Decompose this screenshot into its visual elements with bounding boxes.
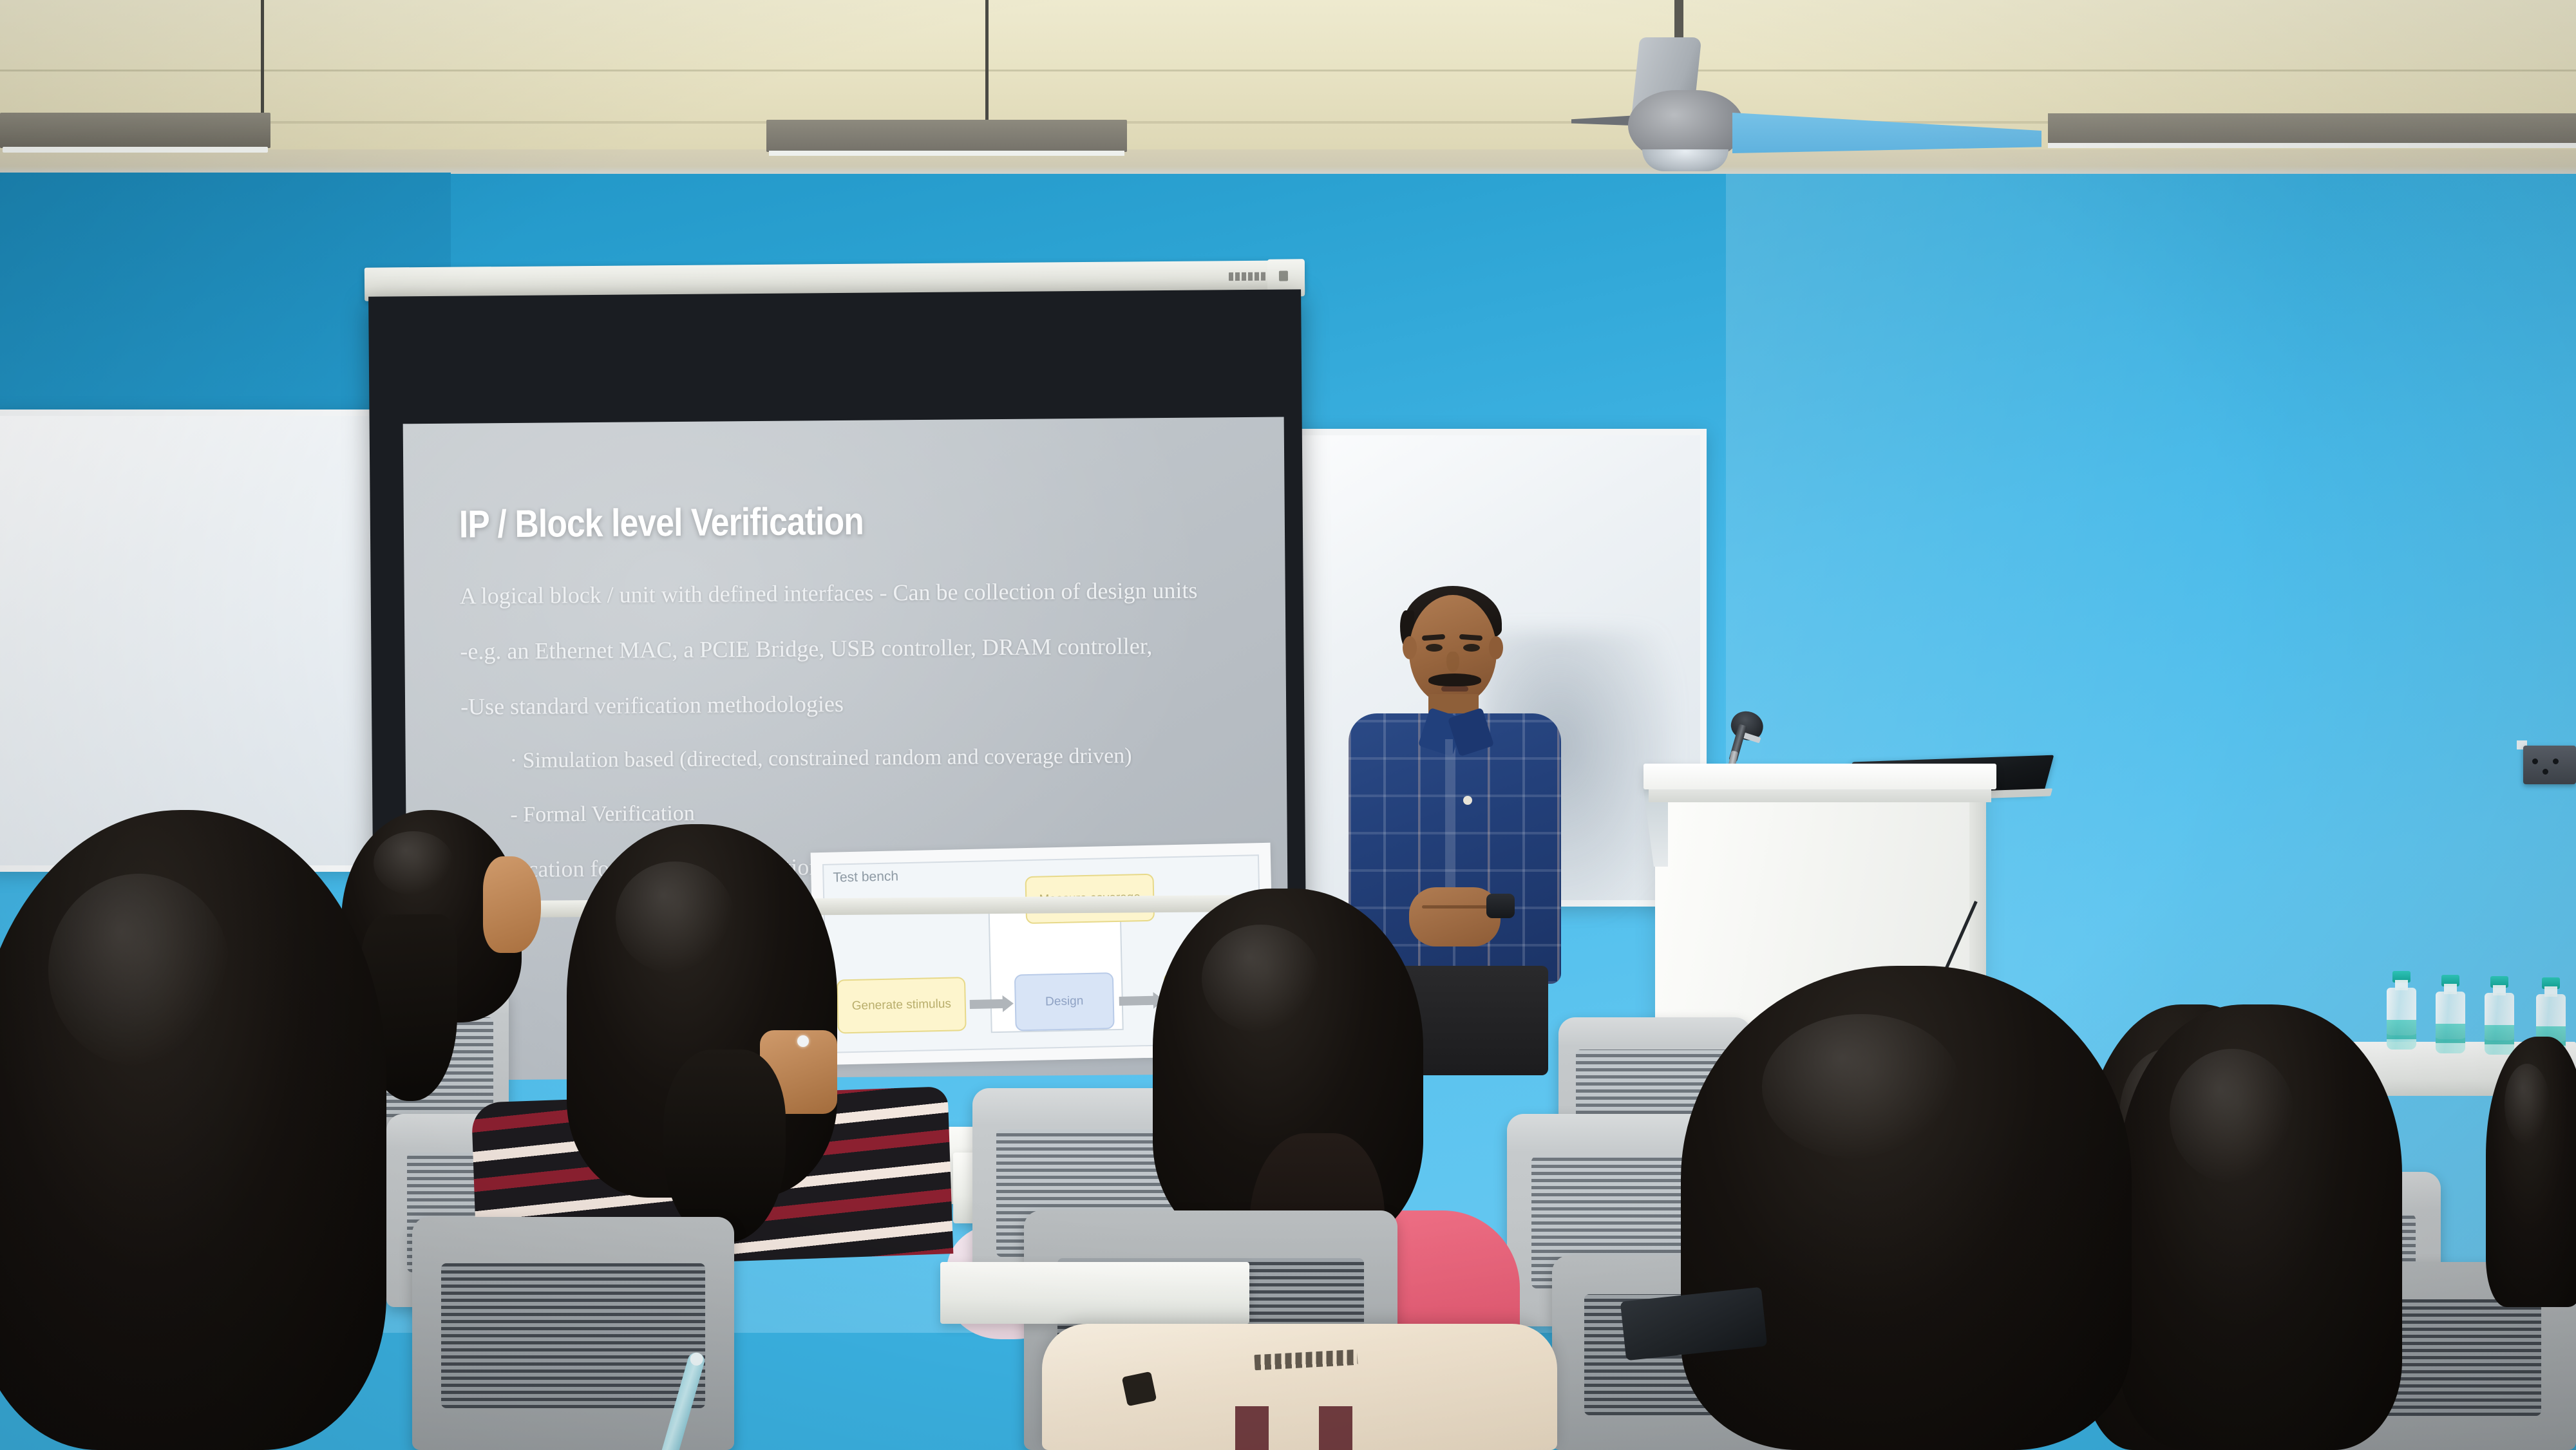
- classroom-photo-scene: IP / Block level Verification A logical …: [0, 0, 2576, 1450]
- diagram-arrow-design-to-check: [1119, 996, 1154, 1006]
- bottle-label: [2436, 1024, 2465, 1043]
- presenter-moustache: [1428, 673, 1481, 686]
- diagram-box-design: Design: [1014, 972, 1115, 1031]
- podium-lip: [1649, 789, 1991, 802]
- ceiling-seam: [0, 70, 2576, 71]
- screen-brand-logo-icon: [1229, 272, 1271, 281]
- hair-sheen: [2170, 1049, 2295, 1183]
- presenter-ear-left: [1403, 636, 1417, 659]
- backpack-brand-logo-icon: [1254, 1350, 1358, 1370]
- hair-sheen: [48, 874, 230, 1066]
- water-bottle[interactable]: [2387, 972, 2416, 1050]
- backpack[interactable]: [1042, 1324, 1557, 1450]
- hair-sheen: [1202, 925, 1321, 1033]
- slide-bullet: -e.g. an Ethernet MAC, a PCIE Bridge, US…: [460, 634, 1258, 664]
- diagram-box-generate-stimulus: Generate stimulus: [837, 977, 967, 1033]
- hair-sheen: [616, 862, 735, 974]
- presenter-nose: [1446, 652, 1459, 672]
- presenter-hand-crease: [1422, 905, 1489, 909]
- slide-bullet: A logical block / unit with defined inte…: [460, 578, 1258, 609]
- water-bottle[interactable]: [2436, 976, 2465, 1053]
- whiteboard-left: [0, 410, 386, 872]
- water-bottle[interactable]: [2485, 977, 2514, 1055]
- presentation-slide: IP / Block level Verification A logical …: [403, 417, 1289, 1081]
- projection-screen: IP / Block level Verification A logical …: [368, 289, 1306, 940]
- tube-light-icon-left: [0, 113, 270, 148]
- slide-bullet: - Formal Verification: [510, 798, 1260, 827]
- backpack-strap: [1235, 1406, 1269, 1450]
- hair-sheen: [1762, 1014, 1960, 1160]
- presenter-ear-right: [1489, 636, 1503, 659]
- audience-head: [2119, 1004, 2402, 1450]
- audience-face: [483, 856, 541, 953]
- presenter-eye-left: [1426, 644, 1443, 652]
- slide-bullet: -Use standard verification methodologies: [460, 688, 1259, 719]
- power-socket-icon[interactable]: [2523, 746, 2576, 784]
- audience-head: [2486, 1037, 2576, 1307]
- backpack-buckle-icon: [1122, 1371, 1157, 1407]
- presenter-smartwatch: [1486, 894, 1515, 918]
- presenter-shirt-button: [1463, 796, 1472, 805]
- bottle-body: [2485, 993, 2514, 1055]
- presenter-eye-right: [1463, 644, 1480, 652]
- tube-light-icon-right: [2048, 113, 2576, 144]
- bottle-label: [2485, 1025, 2514, 1044]
- hair-sheen: [2505, 1064, 2550, 1145]
- chair-mesh: [441, 1263, 705, 1408]
- bottle-body: [2387, 988, 2416, 1050]
- light-rod-centre: [985, 0, 989, 122]
- audience-head: [0, 810, 386, 1450]
- bottle-label: [2387, 1020, 2416, 1039]
- diagram-arrow-stimulus-to-design: [970, 999, 1003, 1009]
- audience-ponytail: [663, 1050, 786, 1243]
- desk[interactable]: [940, 1262, 1249, 1324]
- tube-light-icon-centre: [766, 120, 1127, 152]
- backpack-strap: [1319, 1406, 1352, 1450]
- diagram-container-label: Test bench: [833, 869, 898, 885]
- light-rod-left: [261, 0, 264, 115]
- audience-head: [1681, 966, 2132, 1450]
- podium-top-surface: [1643, 764, 1996, 789]
- slide-title: IP / Block level Verification: [459, 499, 864, 547]
- bottle-body: [2436, 992, 2465, 1053]
- hair-sheen: [374, 831, 453, 895]
- slide-bullet: · Simulation based (directed, constraine…: [510, 744, 1260, 773]
- ceiling-fan-icon: [1628, 90, 1744, 161]
- audience-earring: [797, 1035, 809, 1047]
- presenter-mouth: [1441, 686, 1468, 692]
